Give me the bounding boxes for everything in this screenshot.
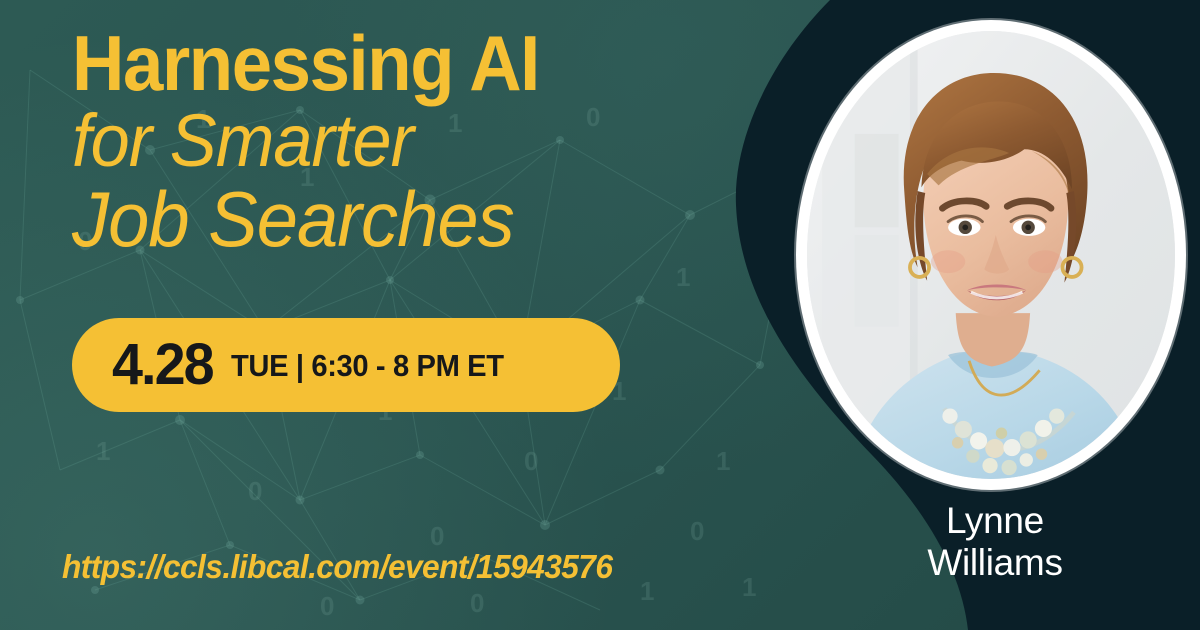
speaker-last-name: Williams bbox=[870, 542, 1120, 584]
speaker-portrait bbox=[796, 20, 1186, 490]
event-promo-poster: 1 1 1 0 1 0 1 0 0 1 0 1 0 0 1 1 0 0 1 1 bbox=[0, 0, 1200, 630]
headline-line-1: Harnessing AI bbox=[72, 26, 667, 101]
portrait-photo bbox=[807, 31, 1175, 479]
headline-line-2: for Smarter bbox=[72, 103, 680, 178]
speaker-name: Lynne Williams bbox=[870, 500, 1120, 584]
event-registration-url[interactable]: https://ccls.libcal.com/event/15943576 bbox=[62, 548, 612, 586]
event-time: TUE | 6:30 - 8 PM ET bbox=[231, 350, 504, 381]
headline-block: Harnessing AI for Smarter Job Searches bbox=[72, 26, 712, 260]
headline-line-3: Job Searches bbox=[72, 180, 680, 260]
speaker-first-name: Lynne bbox=[870, 500, 1120, 542]
event-date: 4.28 bbox=[112, 336, 213, 394]
date-time-badge: 4.28 TUE | 6:30 - 8 PM ET bbox=[72, 318, 620, 412]
